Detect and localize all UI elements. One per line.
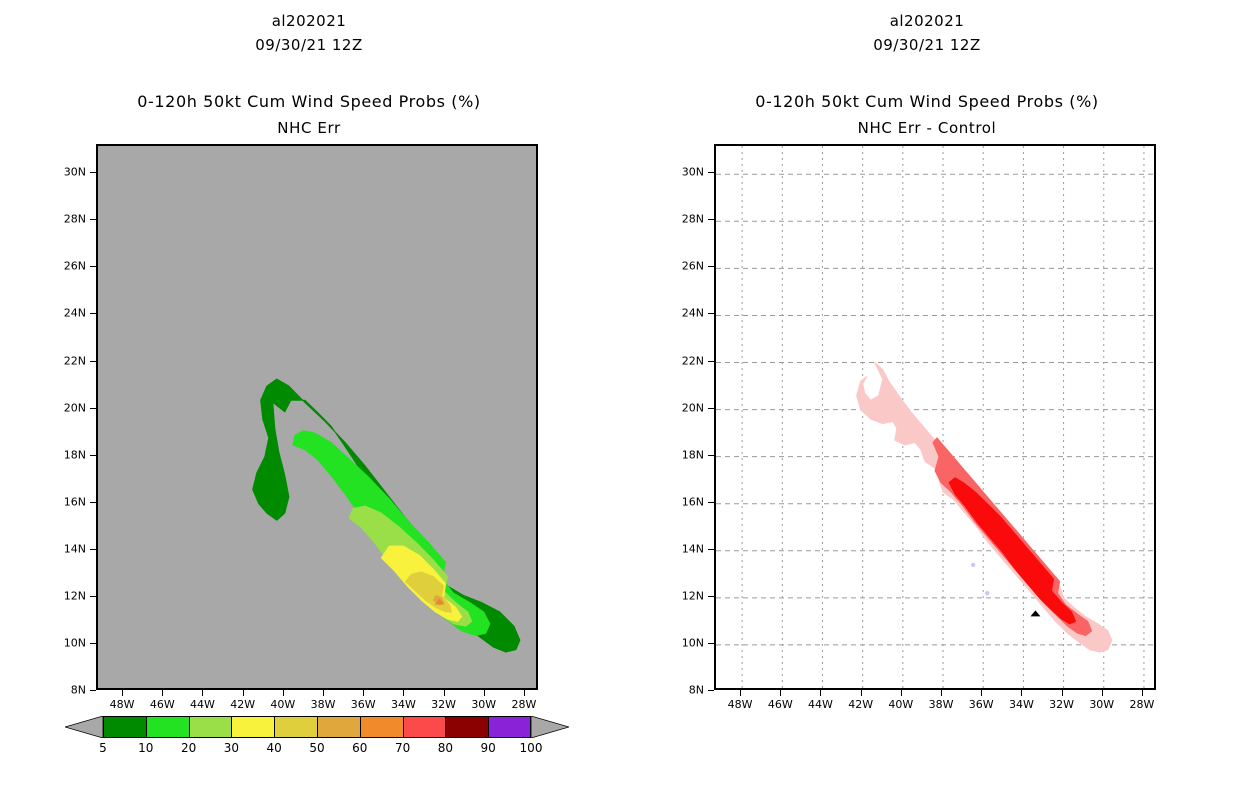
x-axis-label: 44W (800, 698, 840, 711)
y-tick (90, 266, 96, 267)
y-tick (708, 690, 714, 691)
contour-field-difference (716, 146, 1156, 690)
y-axis-label: 16N (52, 495, 86, 508)
x-axis-label: 38W (921, 698, 961, 711)
x-axis-label: 28W (504, 698, 544, 711)
x-tick (363, 690, 364, 696)
y-axis-label: 22N (670, 354, 704, 367)
colorbar-band[interactable] (488, 716, 531, 738)
x-axis-label: 36W (961, 698, 1001, 711)
y-axis-label: 30N (52, 166, 86, 179)
y-tick (90, 219, 96, 220)
x-axis-label: 34W (1001, 698, 1041, 711)
colorbar-band[interactable] (317, 716, 360, 738)
y-tick (708, 455, 714, 456)
y-axis-label: 28N (670, 213, 704, 226)
x-axis-label: 30W (464, 698, 504, 711)
y-axis-label: 10N (52, 636, 86, 649)
colorbar-tick-label: 5 (80, 741, 126, 755)
x-tick (162, 690, 163, 696)
colorbar-band[interactable] (103, 716, 146, 738)
y-tick (90, 361, 96, 362)
plot-canvas-right (714, 144, 1156, 690)
x-tick (323, 690, 324, 696)
x-axis-label: 32W (1042, 698, 1082, 711)
x-tick (981, 690, 982, 696)
colorbar-tick-label: 40 (251, 741, 297, 755)
plot-canvas-left (96, 144, 538, 690)
y-axis-label: 18N (670, 448, 704, 461)
x-tick (901, 690, 902, 696)
x-axis-label: 32W (424, 698, 464, 711)
colorbar-band[interactable] (360, 716, 403, 738)
x-tick (1142, 690, 1143, 696)
y-axis-label: 28N (52, 213, 86, 226)
y-axis-label: 26N (670, 260, 704, 273)
x-tick (403, 690, 404, 696)
x-axis-label: 46W (760, 698, 800, 711)
x-tick (820, 690, 821, 696)
y-axis-label: 14N (670, 542, 704, 555)
x-tick (202, 690, 203, 696)
contour-field-nhc-err (98, 146, 538, 690)
panel-nhc-err-minus-control: al202021 09/30/21 12Z 0-120h 50kt Cum Wi… (618, 0, 1236, 800)
y-tick (90, 690, 96, 691)
colorbar-band[interactable] (403, 716, 446, 738)
y-tick (90, 596, 96, 597)
x-axis-label: 48W (102, 698, 142, 711)
x-tick (780, 690, 781, 696)
y-tick (708, 408, 714, 409)
x-axis-label: 48W (720, 698, 760, 711)
x-axis-label: 42W (841, 698, 881, 711)
y-axis-label: 8N (670, 684, 704, 697)
y-axis-label: 10N (670, 636, 704, 649)
x-axis-label: 30W (1082, 698, 1122, 711)
x-axis-label: 42W (223, 698, 263, 711)
y-axis-label: 12N (52, 589, 86, 602)
y-tick (708, 643, 714, 644)
x-tick (122, 690, 123, 696)
y-axis-label: 30N (670, 166, 704, 179)
x-tick (1102, 690, 1103, 696)
colorbar-over-arrow (531, 716, 569, 738)
negative-difference-speck (971, 563, 975, 567)
y-axis-label: 20N (52, 401, 86, 414)
x-axis-label: 40W (263, 698, 303, 711)
colorbar-tick-label: 60 (337, 741, 383, 755)
y-axis-label: 24N (670, 307, 704, 320)
colorbar-tick-label: 30 (208, 741, 254, 755)
y-tick (90, 408, 96, 409)
colorbar-band[interactable] (274, 716, 317, 738)
plot-area-right: 8N10N12N14N16N18N20N22N24N26N28N30N48W46… (618, 0, 1236, 800)
x-axis-label: 44W (182, 698, 222, 711)
y-axis-label: 16N (670, 495, 704, 508)
colorbar-band[interactable] (231, 716, 274, 738)
probability-colorbar[interactable]: 5102030405060708090100 (103, 716, 531, 762)
y-tick (90, 549, 96, 550)
y-axis-label: 12N (670, 589, 704, 602)
y-tick (90, 643, 96, 644)
y-tick (708, 361, 714, 362)
y-tick (90, 455, 96, 456)
y-axis-label: 8N (52, 684, 86, 697)
plot-area-left: 8N10N12N14N16N18N20N22N24N26N28N30N48W46… (0, 0, 618, 800)
x-axis-label: 34W (383, 698, 423, 711)
colorbar-tick-label: 90 (465, 741, 511, 755)
y-tick (90, 172, 96, 173)
x-tick (1062, 690, 1063, 696)
x-tick (861, 690, 862, 696)
y-axis-label: 18N (52, 448, 86, 461)
y-axis-label: 20N (670, 401, 704, 414)
colorbar-tick-label: 80 (422, 741, 468, 755)
x-tick (941, 690, 942, 696)
peak-marker (1030, 610, 1040, 616)
x-tick (524, 690, 525, 696)
y-axis-label: 24N (52, 307, 86, 320)
y-tick (90, 313, 96, 314)
gridlines (716, 146, 1156, 690)
y-axis-label: 22N (52, 354, 86, 367)
y-tick (708, 313, 714, 314)
y-tick (708, 219, 714, 220)
y-axis-label: 26N (52, 260, 86, 273)
panel-nhc-err: al202021 09/30/21 12Z 0-120h 50kt Cum Wi… (0, 0, 618, 800)
colorbar-under-arrow (65, 716, 103, 738)
y-tick (90, 502, 96, 503)
x-tick (740, 690, 741, 696)
colorbar-tick-label: 10 (123, 741, 169, 755)
colorbar-tick-label: 20 (166, 741, 212, 755)
y-axis-label: 14N (52, 542, 86, 555)
x-tick (283, 690, 284, 696)
x-axis-label: 28W (1122, 698, 1162, 711)
y-tick (708, 502, 714, 503)
y-tick (708, 172, 714, 173)
x-axis-label: 38W (303, 698, 343, 711)
colorbar-band[interactable] (445, 716, 488, 738)
x-tick (1021, 690, 1022, 696)
x-axis-label: 40W (881, 698, 921, 711)
negative-difference-speck (985, 591, 989, 595)
colorbar-tick-label: 50 (294, 741, 340, 755)
x-axis-label: 46W (142, 698, 182, 711)
x-tick (243, 690, 244, 696)
colorbar-band[interactable] (189, 716, 232, 738)
y-tick (708, 549, 714, 550)
colorbar-tick-label: 70 (380, 741, 426, 755)
x-tick (484, 690, 485, 696)
y-tick (708, 266, 714, 267)
colorbar-tick-label: 100 (508, 741, 554, 755)
y-tick (708, 596, 714, 597)
colorbar-band[interactable] (146, 716, 189, 738)
x-axis-label: 36W (343, 698, 383, 711)
x-tick (444, 690, 445, 696)
